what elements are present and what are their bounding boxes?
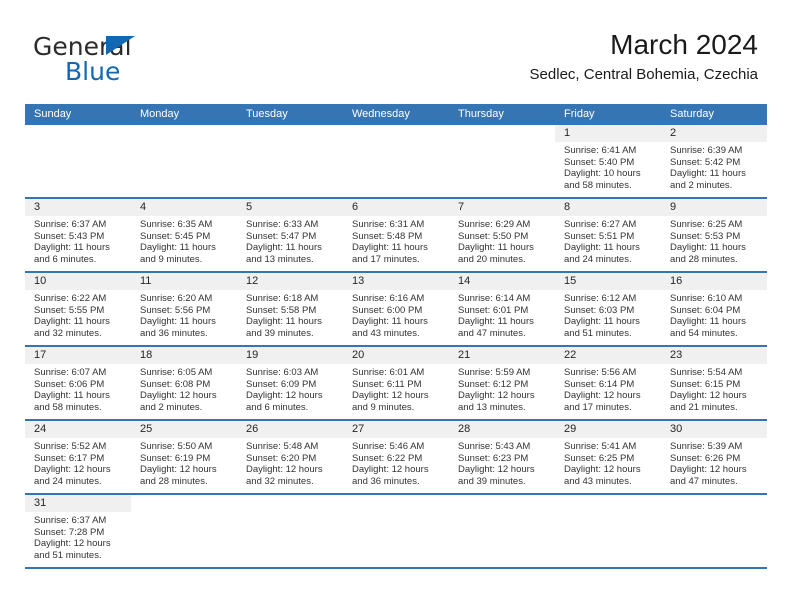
day-sun-info: Sunrise: 6:31 AMSunset: 5:48 PMDaylight:… [343,216,449,265]
day-sunset-text: Sunset: 7:28 PM [34,527,125,539]
day-sunset-text: Sunset: 6:11 PM [352,379,443,391]
day-daylight-line2-text: and 2 minutes. [670,180,761,192]
day-number [449,125,555,142]
calendar-day-cell[interactable]: 27Sunrise: 5:46 AMSunset: 6:22 PMDayligh… [343,421,449,493]
day-sunrise-text: Sunrise: 6:18 AM [246,293,337,305]
day-number: 11 [131,273,237,290]
day-daylight-line1-text: Daylight: 12 hours [34,464,125,476]
day-daylight-line1-text: Daylight: 12 hours [670,390,761,402]
weekday-header-monday: Monday [131,104,237,125]
day-number: 9 [661,199,767,216]
day-number [131,495,237,512]
day-daylight-line2-text: and 17 minutes. [352,254,443,266]
day-daylight-line1-text: Daylight: 11 hours [458,316,549,328]
day-sun-info: Sunrise: 5:52 AMSunset: 6:17 PMDaylight:… [25,438,131,487]
day-sunrise-text: Sunrise: 6:01 AM [352,367,443,379]
day-number: 22 [555,347,661,364]
calendar-day-cell[interactable]: 31Sunrise: 6:37 AMSunset: 7:28 PMDayligh… [25,495,131,567]
day-number: 27 [343,421,449,438]
brand-name-bottom: Blue [65,57,120,86]
day-daylight-line2-text: and 39 minutes. [246,328,337,340]
day-daylight-line2-text: and 17 minutes. [564,402,655,414]
day-sunset-text: Sunset: 5:43 PM [34,231,125,243]
day-sun-info: Sunrise: 6:01 AMSunset: 6:11 PMDaylight:… [343,364,449,413]
day-sunrise-text: Sunrise: 6:03 AM [246,367,337,379]
day-daylight-line2-text: and 58 minutes. [564,180,655,192]
day-number: 3 [25,199,131,216]
day-sunrise-text: Sunrise: 6:29 AM [458,219,549,231]
calendar-day-cell[interactable]: 2Sunrise: 6:39 AMSunset: 5:42 PMDaylight… [661,125,767,197]
calendar-day-cell[interactable]: 7Sunrise: 6:29 AMSunset: 5:50 PMDaylight… [449,199,555,271]
day-sunset-text: Sunset: 5:47 PM [246,231,337,243]
day-number: 2 [661,125,767,142]
day-daylight-line2-text: and 21 minutes. [670,402,761,414]
day-number: 14 [449,273,555,290]
calendar-day-cell[interactable]: 30Sunrise: 5:39 AMSunset: 6:26 PMDayligh… [661,421,767,493]
day-daylight-line2-text: and 20 minutes. [458,254,549,266]
weekday-header-tuesday: Tuesday [237,104,343,125]
day-sunset-text: Sunset: 5:45 PM [140,231,231,243]
day-number [25,125,131,142]
day-daylight-line1-text: Daylight: 12 hours [246,464,337,476]
day-sunrise-text: Sunrise: 6:20 AM [140,293,231,305]
day-sun-info: Sunrise: 5:54 AMSunset: 6:15 PMDaylight:… [661,364,767,413]
day-number: 21 [449,347,555,364]
day-daylight-line2-text: and 43 minutes. [352,328,443,340]
day-sunset-text: Sunset: 6:19 PM [140,453,231,465]
day-number [131,125,237,142]
day-sunset-text: Sunset: 6:08 PM [140,379,231,391]
calendar-day-cell[interactable]: 6Sunrise: 6:31 AMSunset: 5:48 PMDaylight… [343,199,449,271]
day-sunrise-text: Sunrise: 6:25 AM [670,219,761,231]
day-number: 31 [25,495,131,512]
day-sun-info: Sunrise: 6:12 AMSunset: 6:03 PMDaylight:… [555,290,661,339]
triangle-icon [106,36,135,55]
day-daylight-line2-text: and 43 minutes. [564,476,655,488]
day-daylight-line2-text: and 51 minutes. [564,328,655,340]
day-daylight-line1-text: Daylight: 11 hours [246,316,337,328]
day-daylight-line2-text: and 6 minutes. [246,402,337,414]
day-daylight-line1-text: Daylight: 12 hours [140,464,231,476]
day-sunset-text: Sunset: 5:58 PM [246,305,337,317]
day-number: 1 [555,125,661,142]
day-sunrise-text: Sunrise: 5:43 AM [458,441,549,453]
day-number: 20 [343,347,449,364]
day-daylight-line1-text: Daylight: 11 hours [140,316,231,328]
day-sunset-text: Sunset: 5:56 PM [140,305,231,317]
title-block: March 2024 Sedlec, Central Bohemia, Czec… [530,28,758,84]
day-sunset-text: Sunset: 6:06 PM [34,379,125,391]
day-sunrise-text: Sunrise: 5:56 AM [564,367,655,379]
day-daylight-line1-text: Daylight: 10 hours [564,168,655,180]
day-daylight-line1-text: Daylight: 12 hours [458,390,549,402]
day-number: 4 [131,199,237,216]
day-sunrise-text: Sunrise: 5:48 AM [246,441,337,453]
day-sunset-text: Sunset: 6:17 PM [34,453,125,465]
day-sunrise-text: Sunrise: 6:35 AM [140,219,231,231]
calendar-day-cell[interactable]: 20Sunrise: 6:01 AMSunset: 6:11 PMDayligh… [343,347,449,419]
brand-logo[interactable]: General Blue [33,32,263,90]
day-sunset-text: Sunset: 5:55 PM [34,305,125,317]
day-number: 10 [25,273,131,290]
day-daylight-line2-text: and 24 minutes. [34,476,125,488]
calendar-day-cell-empty [449,495,555,567]
calendar-day-cell[interactable]: 5Sunrise: 6:33 AMSunset: 5:47 PMDaylight… [237,199,343,271]
day-daylight-line2-text: and 32 minutes. [34,328,125,340]
day-sunset-text: Sunset: 5:53 PM [670,231,761,243]
calendar-day-cell[interactable]: 1Sunrise: 6:41 AMSunset: 5:40 PMDaylight… [555,125,661,197]
page-header: General Blue March 2024 Sedlec, Central … [33,28,758,94]
day-sunset-text: Sunset: 6:04 PM [670,305,761,317]
day-daylight-line1-text: Daylight: 11 hours [564,242,655,254]
day-sunset-text: Sunset: 6:12 PM [458,379,549,391]
calendar-day-cell-empty [343,495,449,567]
day-sun-info: Sunrise: 6:33 AMSunset: 5:47 PMDaylight:… [237,216,343,265]
day-sun-info: Sunrise: 5:41 AMSunset: 6:25 PMDaylight:… [555,438,661,487]
day-sunset-text: Sunset: 6:01 PM [458,305,549,317]
day-daylight-line1-text: Daylight: 11 hours [352,242,443,254]
day-number: 15 [555,273,661,290]
day-daylight-line1-text: Daylight: 12 hours [352,390,443,402]
day-sunrise-text: Sunrise: 6:12 AM [564,293,655,305]
day-number: 16 [661,273,767,290]
day-daylight-line1-text: Daylight: 11 hours [352,316,443,328]
day-daylight-line2-text: and 36 minutes. [140,328,231,340]
day-daylight-line1-text: Daylight: 11 hours [670,168,761,180]
calendar-day-cell[interactable]: 13Sunrise: 6:16 AMSunset: 6:00 PMDayligh… [343,273,449,345]
calendar-day-cell[interactable]: 19Sunrise: 6:03 AMSunset: 6:09 PMDayligh… [237,347,343,419]
day-sunset-text: Sunset: 6:14 PM [564,379,655,391]
day-daylight-line2-text: and 39 minutes. [458,476,549,488]
calendar-day-cell[interactable]: 18Sunrise: 6:05 AMSunset: 6:08 PMDayligh… [131,347,237,419]
calendar-day-cell[interactable]: 9Sunrise: 6:25 AMSunset: 5:53 PMDaylight… [661,199,767,271]
day-number: 24 [25,421,131,438]
weekday-header-saturday: Saturday [661,104,767,125]
day-daylight-line1-text: Daylight: 12 hours [564,390,655,402]
day-number: 7 [449,199,555,216]
calendar-weeks: 1Sunrise: 6:41 AMSunset: 5:40 PMDaylight… [25,125,767,569]
calendar-week-row: 10Sunrise: 6:22 AMSunset: 5:55 PMDayligh… [25,273,767,347]
day-number: 30 [661,421,767,438]
day-daylight-line1-text: Daylight: 12 hours [352,464,443,476]
calendar-day-cell[interactable]: 21Sunrise: 5:59 AMSunset: 6:12 PMDayligh… [449,347,555,419]
day-sunrise-text: Sunrise: 5:54 AM [670,367,761,379]
day-number [343,495,449,512]
day-sun-info: Sunrise: 6:25 AMSunset: 5:53 PMDaylight:… [661,216,767,265]
day-number: 25 [131,421,237,438]
day-sunset-text: Sunset: 6:22 PM [352,453,443,465]
weekday-header-sunday: Sunday [25,104,131,125]
page-title: March 2024 [530,28,758,62]
day-daylight-line1-text: Daylight: 11 hours [34,316,125,328]
day-sun-info: Sunrise: 5:59 AMSunset: 6:12 PMDaylight:… [449,364,555,413]
day-number [343,125,449,142]
day-number: 8 [555,199,661,216]
day-number: 17 [25,347,131,364]
day-sunset-text: Sunset: 6:15 PM [670,379,761,391]
day-number [661,495,767,512]
calendar-day-cell-empty [555,495,661,567]
calendar-day-cell[interactable]: 15Sunrise: 6:12 AMSunset: 6:03 PMDayligh… [555,273,661,345]
day-sun-info: Sunrise: 6:37 AMSunset: 7:28 PMDaylight:… [25,512,131,561]
calendar-day-cell[interactable]: 10Sunrise: 6:22 AMSunset: 5:55 PMDayligh… [25,273,131,345]
day-sunrise-text: Sunrise: 6:37 AM [34,515,125,527]
day-sun-info: Sunrise: 6:16 AMSunset: 6:00 PMDaylight:… [343,290,449,339]
day-sun-info: Sunrise: 6:22 AMSunset: 5:55 PMDaylight:… [25,290,131,339]
day-number [237,125,343,142]
calendar-grid: SundayMondayTuesdayWednesdayThursdayFrid… [25,104,767,569]
day-sunset-text: Sunset: 6:23 PM [458,453,549,465]
day-sun-info: Sunrise: 6:37 AMSunset: 5:43 PMDaylight:… [25,216,131,265]
day-daylight-line1-text: Daylight: 12 hours [34,538,125,550]
calendar-day-cell[interactable]: 23Sunrise: 5:54 AMSunset: 6:15 PMDayligh… [661,347,767,419]
day-sunrise-text: Sunrise: 6:41 AM [564,145,655,157]
day-sun-info: Sunrise: 6:39 AMSunset: 5:42 PMDaylight:… [661,142,767,191]
calendar-week-row: 24Sunrise: 5:52 AMSunset: 6:17 PMDayligh… [25,421,767,495]
day-sun-info: Sunrise: 6:14 AMSunset: 6:01 PMDaylight:… [449,290,555,339]
day-sunrise-text: Sunrise: 6:33 AM [246,219,337,231]
calendar-week-row: 17Sunrise: 6:07 AMSunset: 6:06 PMDayligh… [25,347,767,421]
day-sunset-text: Sunset: 5:51 PM [564,231,655,243]
day-number [555,495,661,512]
day-sunset-text: Sunset: 5:50 PM [458,231,549,243]
day-daylight-line2-text: and 28 minutes. [140,476,231,488]
day-sun-info: Sunrise: 6:03 AMSunset: 6:09 PMDaylight:… [237,364,343,413]
calendar-day-cell-empty [343,125,449,197]
day-sunrise-text: Sunrise: 6:37 AM [34,219,125,231]
calendar-day-cell[interactable]: 22Sunrise: 5:56 AMSunset: 6:14 PMDayligh… [555,347,661,419]
day-number: 18 [131,347,237,364]
calendar-day-cell[interactable]: 12Sunrise: 6:18 AMSunset: 5:58 PMDayligh… [237,273,343,345]
day-number: 26 [237,421,343,438]
day-sun-info: Sunrise: 5:48 AMSunset: 6:20 PMDaylight:… [237,438,343,487]
day-daylight-line2-text: and 13 minutes. [246,254,337,266]
day-sunset-text: Sunset: 6:03 PM [564,305,655,317]
day-sunrise-text: Sunrise: 5:46 AM [352,441,443,453]
calendar-day-cell[interactable]: 11Sunrise: 6:20 AMSunset: 5:56 PMDayligh… [131,273,237,345]
day-daylight-line2-text: and 51 minutes. [34,550,125,562]
day-sun-info: Sunrise: 6:05 AMSunset: 6:08 PMDaylight:… [131,364,237,413]
calendar-week-row: 1Sunrise: 6:41 AMSunset: 5:40 PMDaylight… [25,125,767,199]
calendar-week-row: 3Sunrise: 6:37 AMSunset: 5:43 PMDaylight… [25,199,767,273]
day-daylight-line1-text: Daylight: 11 hours [670,316,761,328]
day-sunrise-text: Sunrise: 6:05 AM [140,367,231,379]
day-daylight-line1-text: Daylight: 12 hours [458,464,549,476]
day-sunrise-text: Sunrise: 6:27 AM [564,219,655,231]
day-sunrise-text: Sunrise: 5:59 AM [458,367,549,379]
day-number [449,495,555,512]
calendar-day-cell-empty [25,125,131,197]
day-sunrise-text: Sunrise: 5:39 AM [670,441,761,453]
day-sunset-text: Sunset: 6:20 PM [246,453,337,465]
day-sunrise-text: Sunrise: 6:31 AM [352,219,443,231]
day-sunset-text: Sunset: 6:09 PM [246,379,337,391]
weekday-header-wednesday: Wednesday [343,104,449,125]
day-sunrise-text: Sunrise: 5:52 AM [34,441,125,453]
day-sun-info: Sunrise: 6:41 AMSunset: 5:40 PMDaylight:… [555,142,661,191]
calendar-day-cell[interactable]: 28Sunrise: 5:43 AMSunset: 6:23 PMDayligh… [449,421,555,493]
day-number: 5 [237,199,343,216]
day-number [237,495,343,512]
day-sun-info: Sunrise: 5:43 AMSunset: 6:23 PMDaylight:… [449,438,555,487]
calendar-day-cell-empty [449,125,555,197]
day-daylight-line2-text: and 36 minutes. [352,476,443,488]
day-sunset-text: Sunset: 5:40 PM [564,157,655,169]
day-daylight-line2-text: and 9 minutes. [140,254,231,266]
day-sun-info: Sunrise: 6:18 AMSunset: 5:58 PMDaylight:… [237,290,343,339]
day-daylight-line1-text: Daylight: 11 hours [34,242,125,254]
day-daylight-line1-text: Daylight: 11 hours [140,242,231,254]
calendar-day-cell[interactable]: 17Sunrise: 6:07 AMSunset: 6:06 PMDayligh… [25,347,131,419]
day-daylight-line2-text: and 24 minutes. [564,254,655,266]
day-daylight-line2-text: and 2 minutes. [140,402,231,414]
day-sunrise-text: Sunrise: 5:41 AM [564,441,655,453]
day-daylight-line2-text: and 32 minutes. [246,476,337,488]
weekday-header-thursday: Thursday [449,104,555,125]
day-sunset-text: Sunset: 6:25 PM [564,453,655,465]
day-daylight-line2-text: and 47 minutes. [670,476,761,488]
day-number: 19 [237,347,343,364]
day-number: 13 [343,273,449,290]
day-number: 6 [343,199,449,216]
day-daylight-line1-text: Daylight: 11 hours [564,316,655,328]
day-sun-info: Sunrise: 5:56 AMSunset: 6:14 PMDaylight:… [555,364,661,413]
day-daylight-line2-text: and 9 minutes. [352,402,443,414]
day-daylight-line1-text: Daylight: 12 hours [564,464,655,476]
day-daylight-line2-text: and 13 minutes. [458,402,549,414]
day-number: 29 [555,421,661,438]
day-number: 28 [449,421,555,438]
day-sunrise-text: Sunrise: 6:22 AM [34,293,125,305]
weekday-header-friday: Friday [555,104,661,125]
day-daylight-line1-text: Daylight: 11 hours [670,242,761,254]
day-sun-info: Sunrise: 6:29 AMSunset: 5:50 PMDaylight:… [449,216,555,265]
calendar-day-cell[interactable]: 8Sunrise: 6:27 AMSunset: 5:51 PMDaylight… [555,199,661,271]
day-number: 23 [661,347,767,364]
day-daylight-line2-text: and 58 minutes. [34,402,125,414]
day-sun-info: Sunrise: 5:46 AMSunset: 6:22 PMDaylight:… [343,438,449,487]
day-number: 12 [237,273,343,290]
calendar-day-cell[interactable]: 16Sunrise: 6:10 AMSunset: 6:04 PMDayligh… [661,273,767,345]
day-sunset-text: Sunset: 6:26 PM [670,453,761,465]
day-sun-info: Sunrise: 6:10 AMSunset: 6:04 PMDaylight:… [661,290,767,339]
calendar-day-cell[interactable]: 29Sunrise: 5:41 AMSunset: 6:25 PMDayligh… [555,421,661,493]
weekday-header-row: SundayMondayTuesdayWednesdayThursdayFrid… [25,104,767,125]
day-sun-info: Sunrise: 6:35 AMSunset: 5:45 PMDaylight:… [131,216,237,265]
day-daylight-line2-text: and 47 minutes. [458,328,549,340]
day-sun-info: Sunrise: 6:20 AMSunset: 5:56 PMDaylight:… [131,290,237,339]
day-sunset-text: Sunset: 5:48 PM [352,231,443,243]
day-sunrise-text: Sunrise: 6:16 AM [352,293,443,305]
calendar-day-cell-empty [237,125,343,197]
day-sunrise-text: Sunrise: 6:14 AM [458,293,549,305]
day-sun-info: Sunrise: 5:50 AMSunset: 6:19 PMDaylight:… [131,438,237,487]
day-sunrise-text: Sunrise: 5:50 AM [140,441,231,453]
calendar-day-cell[interactable]: 14Sunrise: 6:14 AMSunset: 6:01 PMDayligh… [449,273,555,345]
day-daylight-line1-text: Daylight: 11 hours [458,242,549,254]
day-daylight-line1-text: Daylight: 11 hours [246,242,337,254]
day-sunrise-text: Sunrise: 6:10 AM [670,293,761,305]
day-sun-info: Sunrise: 6:07 AMSunset: 6:06 PMDaylight:… [25,364,131,413]
calendar-day-cell-empty [131,495,237,567]
day-daylight-line2-text: and 6 minutes. [34,254,125,266]
calendar-day-cell[interactable]: 25Sunrise: 5:50 AMSunset: 6:19 PMDayligh… [131,421,237,493]
calendar-day-cell[interactable]: 4Sunrise: 6:35 AMSunset: 5:45 PMDaylight… [131,199,237,271]
calendar-page: General Blue March 2024 Sedlec, Central … [0,0,792,612]
calendar-day-cell-empty [131,125,237,197]
day-daylight-line1-text: Daylight: 12 hours [246,390,337,402]
day-sunset-text: Sunset: 5:42 PM [670,157,761,169]
day-daylight-line2-text: and 28 minutes. [670,254,761,266]
day-sunrise-text: Sunrise: 6:07 AM [34,367,125,379]
page-subtitle: Sedlec, Central Bohemia, Czechia [530,65,758,84]
calendar-day-cell[interactable]: 26Sunrise: 5:48 AMSunset: 6:20 PMDayligh… [237,421,343,493]
day-daylight-line1-text: Daylight: 12 hours [670,464,761,476]
day-sunrise-text: Sunrise: 6:39 AM [670,145,761,157]
day-sun-info: Sunrise: 6:27 AMSunset: 5:51 PMDaylight:… [555,216,661,265]
calendar-day-cell[interactable]: 24Sunrise: 5:52 AMSunset: 6:17 PMDayligh… [25,421,131,493]
calendar-week-row: 31Sunrise: 6:37 AMSunset: 7:28 PMDayligh… [25,495,767,569]
calendar-day-cell-empty [237,495,343,567]
calendar-day-cell[interactable]: 3Sunrise: 6:37 AMSunset: 5:43 PMDaylight… [25,199,131,271]
day-sun-info: Sunrise: 5:39 AMSunset: 6:26 PMDaylight:… [661,438,767,487]
day-daylight-line2-text: and 54 minutes. [670,328,761,340]
day-daylight-line1-text: Daylight: 11 hours [34,390,125,402]
day-sunset-text: Sunset: 6:00 PM [352,305,443,317]
day-daylight-line1-text: Daylight: 12 hours [140,390,231,402]
calendar-day-cell-empty [661,495,767,567]
